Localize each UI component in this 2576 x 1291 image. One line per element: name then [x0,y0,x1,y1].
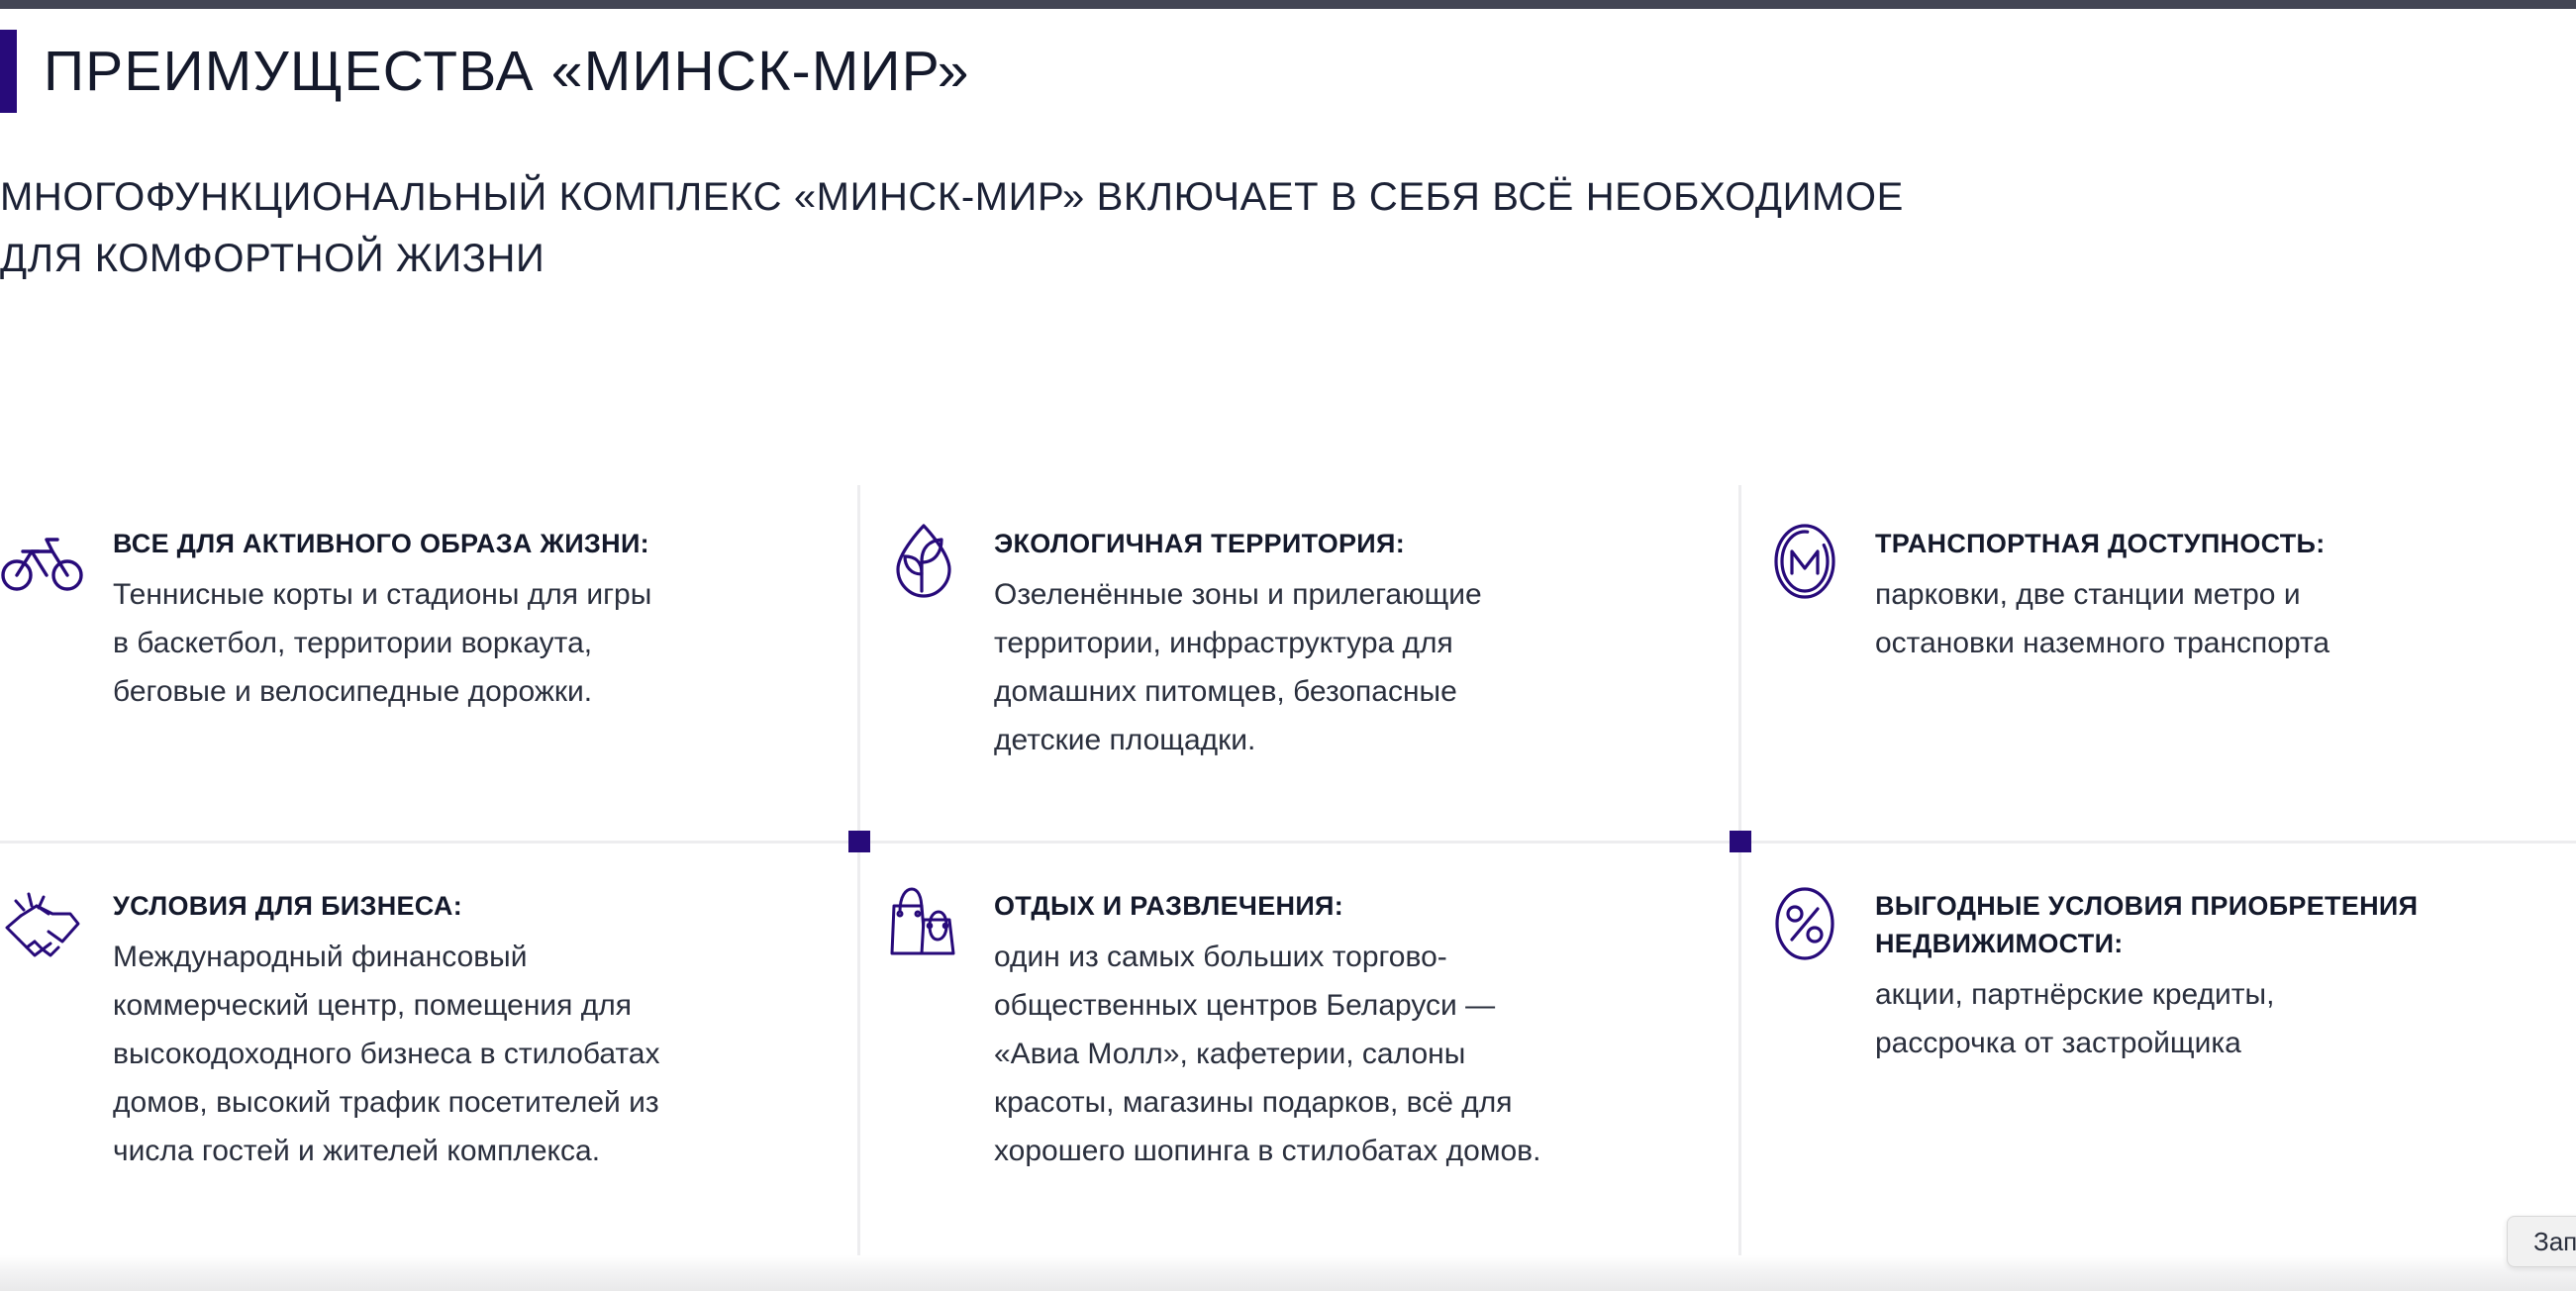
advantage-title: ЭКОЛОГИЧНАЯ ТЕРРИТОРИЯ: [994,525,1693,562]
metro-icon [1762,519,1847,604]
advantage-text-line: высокодоходного бизнеса в стилобатах [113,1030,812,1078]
advantage-body: ВЫГОДНЫЕ УСЛОВИЯ ПРИОБРЕТЕНИЯ НЕДВИЖИМОС… [1875,881,2554,1067]
advantage-title-line: ВЫГОДНЫЕ УСЛОВИЯ ПРИОБРЕТЕНИЯ [1875,891,2418,921]
advantage-text: Теннисные корты и стадионы для игры в ба… [113,570,812,716]
advantage-card-business: УСЛОВИЯ ДЛЯ БИЗНЕСА: Международный финан… [0,881,812,1175]
advantage-body: ВСЕ ДЛЯ АКТИВНОГО ОБРАЗА ЖИЗНИ: Теннисны… [113,519,812,716]
advantage-text-line: хорошего шопинга в стилобатах домов. [994,1127,1693,1175]
advantage-text: Международный финансовый коммерческий це… [113,933,812,1175]
subtitle-line-2: ДЛЯ КОМФОРТНОЙ ЖИЗНИ [0,228,2576,289]
advantage-text: один из самых больших торгово- обществен… [994,933,1693,1175]
grid-divider-vertical-1 [857,485,860,1257]
advantage-text-line: один из самых больших торгово- [994,933,1693,981]
advantage-body: ОТДЫХ И РАЗВЛЕЧЕНИЯ: один из самых больш… [994,881,1693,1175]
advantages-grid: ВСЕ ДЛЯ АКТИВНОГО ОБРАЗА ЖИЗНИ: Теннисны… [0,485,2576,1257]
handshake-icon [0,881,85,966]
advantage-card-purchase-terms: ВЫГОДНЫЕ УСЛОВИЯ ПРИОБРЕТЕНИЯ НЕДВИЖИМОС… [1762,881,2554,1067]
title-accent-bar [0,30,17,113]
advantage-card-active-lifestyle: ВСЕ ДЛЯ АКТИВНОГО ОБРАЗА ЖИЗНИ: Теннисны… [0,519,812,716]
advantage-text-line: акции, партнёрские кредиты, [1875,970,2554,1019]
leaf-droplet-icon [881,519,966,604]
advantage-title: ОТДЫХ И РАЗВЛЕЧЕНИЯ: [994,887,1693,925]
advantage-title: ТРАНСПОРТНАЯ ДОСТУПНОСТЬ: [1875,525,2554,562]
advantage-title: ВСЕ ДЛЯ АКТИВНОГО ОБРАЗА ЖИЗНИ: [113,525,812,562]
advantage-text-line: Международный финансовый [113,933,812,981]
advantage-text-line: остановки наземного транспорта [1875,619,2554,667]
advantage-text: акции, партнёрские кредиты, рассрочка от… [1875,970,2554,1067]
grid-divider-horizontal [0,841,2576,844]
bicycle-icon [0,519,85,604]
advantage-text-line: коммерческий центр, помещения для [113,981,812,1030]
advantage-card-leisure: ОТДЫХ И РАЗВЛЕЧЕНИЯ: один из самых больш… [881,881,1693,1175]
footer-fade [0,1255,2576,1291]
advantage-text-line: рассрочка от застройщика [1875,1019,2554,1067]
advantage-text: парковки, две станции метро и остановки … [1875,570,2554,667]
page-root: ПРЕИМУЩЕСТВА «МИНСК-МИР» МНОГОФУНКЦИОНАЛ… [0,0,2576,1291]
advantage-text-line: территории, инфраструктура для [994,619,1693,667]
advantage-text-line: в баскетбол, территории воркаута, [113,619,812,667]
grid-divider-vertical-2 [1738,485,1741,1257]
floating-signup-button[interactable]: Зап [2507,1216,2576,1267]
advantage-text-line: детские площадки. [994,716,1693,764]
advantage-text-line: домов, высокий трафик посетителей из [113,1078,812,1127]
advantage-body: ТРАНСПОРТНАЯ ДОСТУПНОСТЬ: парковки, две … [1875,519,2554,667]
advantage-text-line: «Авиа Молл», кафетерии, салоны [994,1030,1693,1078]
advantage-title: УСЛОВИЯ ДЛЯ БИЗНЕСА: [113,887,812,925]
advantage-text-line: Озеленённые зоны и прилегающие [994,570,1693,619]
percent-icon [1762,881,1847,966]
advantage-title: ВЫГОДНЫЕ УСЛОВИЯ ПРИОБРЕТЕНИЯ НЕДВИЖИМОС… [1875,887,2554,962]
advantage-text-line: домашних питомцев, безопасные [994,667,1693,716]
browser-chrome-bar [0,0,2576,9]
shopping-bags-icon [881,881,966,966]
advantage-card-transport: ТРАНСПОРТНАЯ ДОСТУПНОСТЬ: парковки, две … [1762,519,2554,667]
advantage-text-line: парковки, две станции метро и [1875,570,2554,619]
page-subtitle: МНОГОФУНКЦИОНАЛЬНЫЙ КОМПЛЕКС «МИНСК-МИР»… [0,166,2576,289]
subtitle-line-1: МНОГОФУНКЦИОНАЛЬНЫЙ КОМПЛЕКС «МИНСК-МИР»… [0,166,2576,228]
advantage-body: УСЛОВИЯ ДЛЯ БИЗНЕСА: Международный финан… [113,881,812,1175]
advantage-text-line: Теннисные корты и стадионы для игры [113,570,812,619]
advantage-text: Озеленённые зоны и прилегающие территори… [994,570,1693,764]
grid-marker-square-2 [1730,831,1751,852]
advantage-text-line: красоты, магазины подарков, всё для [994,1078,1693,1127]
advantage-text-line: числа гостей и жителей комплекса. [113,1127,812,1175]
page-title: ПРЕИМУЩЕСТВА «МИНСК-МИР» [44,30,970,113]
advantage-card-eco-territory: ЭКОЛОГИЧНАЯ ТЕРРИТОРИЯ: Озеленённые зоны… [881,519,1693,764]
advantage-text-line: беговые и велосипедные дорожки. [113,667,812,716]
advantage-title-line: НЕДВИЖИМОСТИ: [1875,929,2124,958]
advantage-text-line: общественных центров Беларуси — [994,981,1693,1030]
grid-marker-square-1 [848,831,870,852]
section-heading: ПРЕИМУЩЕСТВА «МИНСК-МИР» [0,30,2576,115]
advantage-body: ЭКОЛОГИЧНАЯ ТЕРРИТОРИЯ: Озеленённые зоны… [994,519,1693,764]
